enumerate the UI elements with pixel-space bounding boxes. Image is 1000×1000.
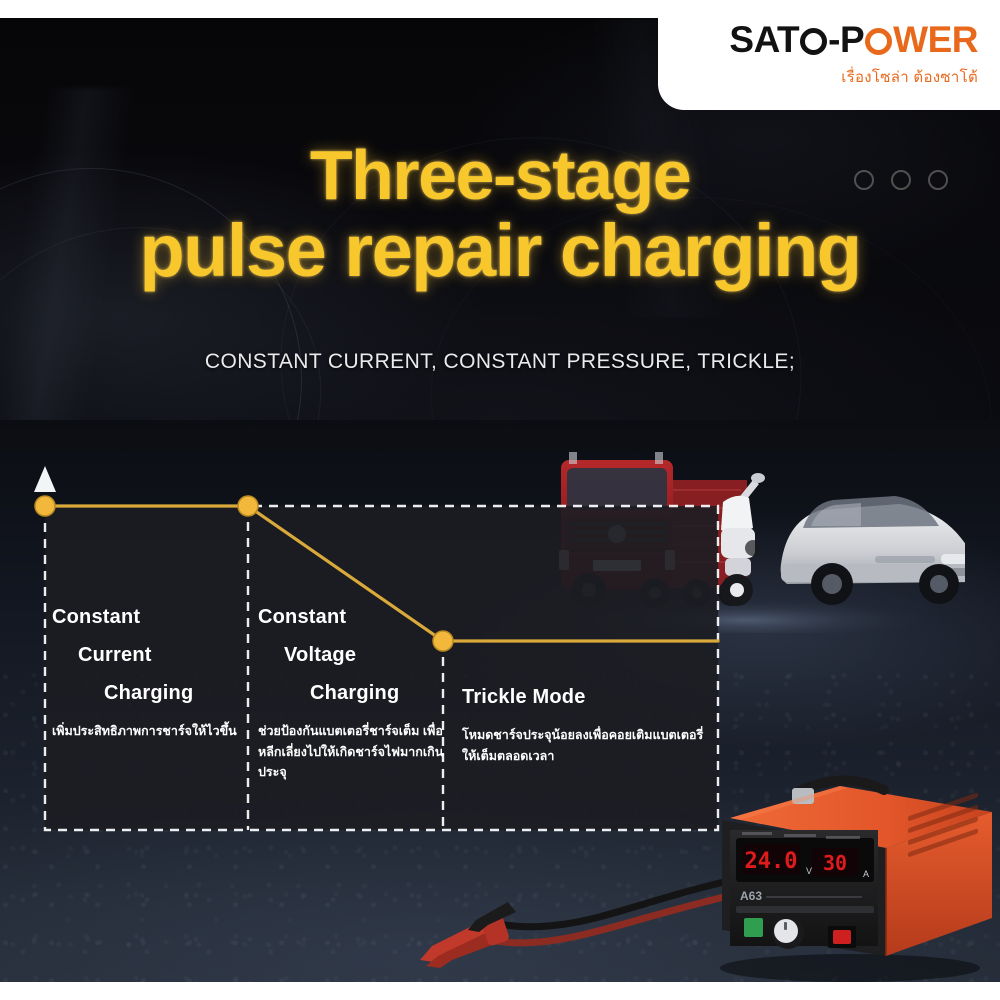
- brand-logo-card[interactable]: SAT-PWER เรื่องโซล่า ต้องซาโต้: [658, 0, 1000, 110]
- stage-title-line: Charging: [258, 674, 454, 712]
- stage-title-line: Voltage: [258, 636, 454, 674]
- stage-title-trickle-mode: Trickle Mode: [462, 678, 710, 716]
- artboard: Three-stage pulse repair charging CONSTA…: [0, 18, 1000, 982]
- stage-title-constant-voltage: Constant Voltage Charging: [258, 598, 454, 712]
- current-value: 30: [823, 851, 847, 875]
- panel-divider: [736, 906, 874, 913]
- stage-trickle-mode: Trickle Mode โหมดชาร์จประจุน้อยลงเพื่อคอ…: [462, 678, 710, 766]
- o-ring-accent-icon: [865, 28, 892, 55]
- product-banner: Three-stage pulse repair charging CONSTA…: [0, 0, 1000, 1000]
- green-power-button: [744, 918, 763, 937]
- voltage-value: 24.0: [745, 849, 798, 874]
- car-shape: [781, 496, 965, 605]
- chart-node-start: [35, 496, 55, 516]
- logo-text-p: -P: [828, 19, 864, 60]
- up-arrow-icon: [34, 466, 56, 492]
- hero-subtitle: CONSTANT CURRENT, CONSTANT PRESSURE, TRI…: [0, 350, 1000, 374]
- decor-highlight-1: [0, 88, 137, 428]
- stage-desc-trickle-mode: โหมดชาร์จประจุน้อยลงเพื่อคอยเติมแบตเตอรี…: [462, 725, 710, 766]
- current-unit: A: [863, 869, 869, 879]
- stage-title-line: Charging: [52, 674, 270, 712]
- voltage-unit: V: [806, 866, 812, 876]
- stage-constant-voltage: Constant Voltage Charging ช่วยป้องกันแบต…: [258, 598, 454, 783]
- circle-outline-icon: [928, 170, 948, 190]
- circle-outline-icon: [854, 170, 874, 190]
- stage-title-line: Constant: [52, 598, 270, 636]
- stage-title-constant-current: Constant Current Charging: [52, 598, 270, 712]
- stage-title-line: Constant: [258, 598, 454, 636]
- red-mode-button: [833, 930, 851, 944]
- brand-tagline: เรื่องโซล่า ต้องซาโต้: [841, 65, 978, 89]
- o-ring-icon: [800, 28, 827, 55]
- battery-charger-device: 24.0 V 30 A A63: [700, 770, 1000, 982]
- circle-outline-icon: [891, 170, 911, 190]
- decor-dot-group: [854, 170, 948, 190]
- stage-title-line: Trickle Mode: [462, 678, 710, 716]
- logo-text-wer: WER: [893, 19, 978, 60]
- brand-wordmark: SAT-PWER: [729, 21, 978, 58]
- logo-text-sat: SAT: [729, 19, 799, 60]
- chart-node-cc-cv: [238, 496, 258, 516]
- stage-title-line: Current: [52, 636, 270, 674]
- model-label: A63: [740, 889, 762, 903]
- stage-desc-constant-voltage: ช่วยป้องกันแบตเตอรี่ชาร์จเต็ม เพื่อหลีกเ…: [258, 721, 454, 783]
- stage-constant-current: Constant Current Charging เพิ่มประสิทธิภ…: [52, 598, 270, 742]
- stage-desc-constant-current: เพิ่มประสิทธิภาพการชาร์จให้ไวขึ้น: [52, 721, 270, 742]
